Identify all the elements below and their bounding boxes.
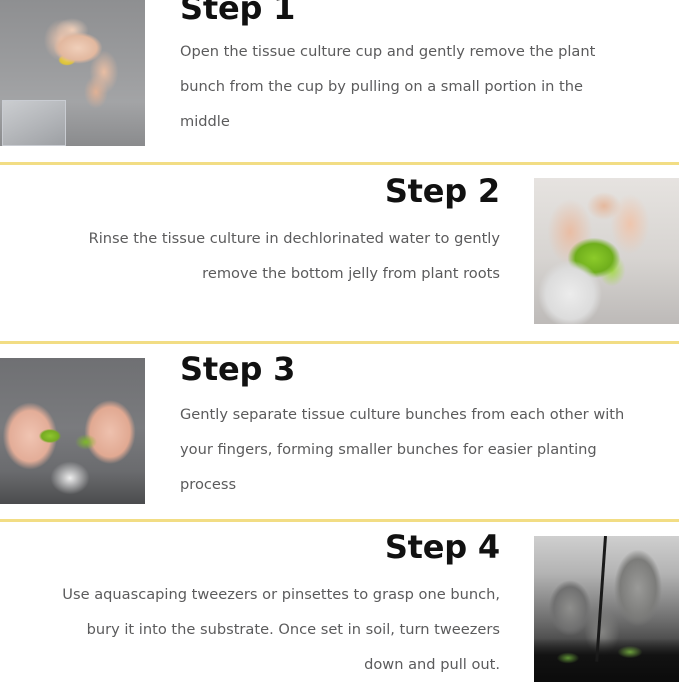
step-2-content: Step 2 Rinse the tissue culture in dechl… xyxy=(60,175,500,291)
step-1-body: Open the tissue culture cup and gently r… xyxy=(180,34,630,139)
step-2-body: Rinse the tissue culture in dechlorinate… xyxy=(60,221,500,291)
step-2-photo xyxy=(534,178,679,324)
step-1-photo xyxy=(0,0,145,146)
step-3-content: Step 3 Gently separate tissue culture bu… xyxy=(180,353,630,502)
step-block-1: Step 1 Open the tissue culture cup and g… xyxy=(0,0,679,163)
step-2-title: Step 2 xyxy=(60,175,500,209)
step-3-photo-image xyxy=(0,358,145,504)
divider-2 xyxy=(0,341,679,344)
divider-3 xyxy=(0,519,679,522)
instruction-steps-page: Step 1 Open the tissue culture cup and g… xyxy=(0,0,679,684)
step-block-4: Step 4 Use aquascaping tweezers or pinse… xyxy=(0,523,679,684)
step-4-content: Step 4 Use aquascaping tweezers or pinse… xyxy=(45,531,500,682)
step-4-body: Use aquascaping tweezers or pinsettes to… xyxy=(45,577,500,682)
step-3-photo xyxy=(0,358,145,504)
step-3-title: Step 3 xyxy=(180,353,630,387)
step-3-body: Gently separate tissue culture bunches f… xyxy=(180,397,630,502)
step-4-title: Step 4 xyxy=(45,531,500,565)
step-block-3: Step 3 Gently separate tissue culture bu… xyxy=(0,345,679,520)
step-1-title: Step 1 xyxy=(180,0,630,26)
step-1-content: Step 1 Open the tissue culture cup and g… xyxy=(180,0,630,139)
step-1-photo-image xyxy=(0,0,145,146)
step-4-photo xyxy=(534,536,679,682)
step-4-photo-image xyxy=(534,536,679,682)
step-2-photo-image xyxy=(534,178,679,324)
step-block-2: Step 2 Rinse the tissue culture in dechl… xyxy=(0,165,679,342)
